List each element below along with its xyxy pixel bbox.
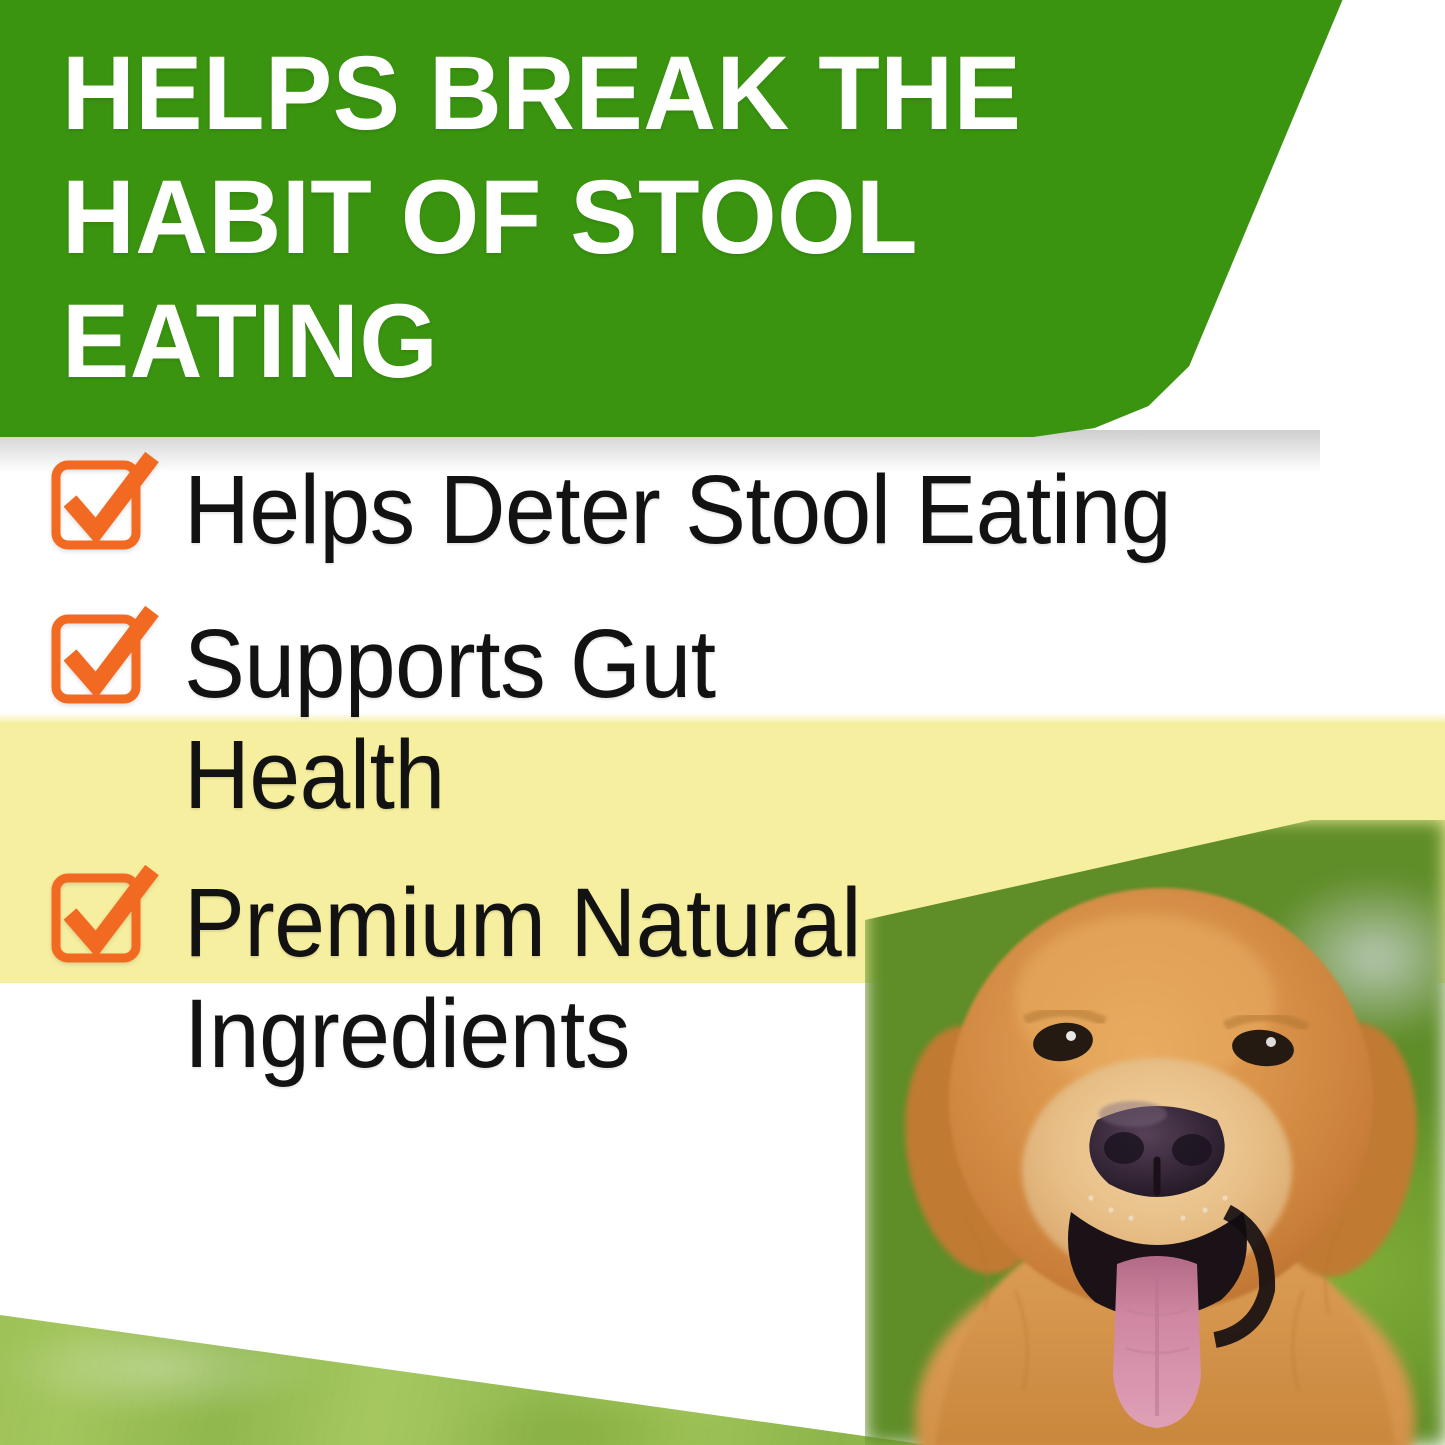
checked-checkbox-icon xyxy=(42,876,160,984)
checked-checkbox-icon xyxy=(42,617,160,725)
grass-photo xyxy=(0,1255,1000,1445)
list-item-label: Helps Deter Stool Eating xyxy=(184,455,1171,566)
list-item-label: Premium Natural Ingredients xyxy=(184,868,1011,1089)
list-item-label: Supports Gut Health xyxy=(184,609,992,830)
list-item: Premium Natural Ingredients xyxy=(0,868,1445,1089)
grass-photo-texture xyxy=(0,1255,1000,1445)
benefits-list: Helps Deter Stool Eating Supports Gut He… xyxy=(0,455,1445,1109)
product-feature-card: HELPS BREAK THE HABIT OF STOOL EATING He… xyxy=(0,0,1445,1445)
page-title: HELPS BREAK THE HABIT OF STOOL EATING xyxy=(62,32,1200,404)
list-item: Helps Deter Stool Eating xyxy=(0,455,1445,571)
header-banner: HELPS BREAK THE HABIT OF STOOL EATING xyxy=(0,0,1345,437)
checked-checkbox-icon xyxy=(42,463,160,571)
list-item: Supports Gut Health xyxy=(0,609,1445,830)
